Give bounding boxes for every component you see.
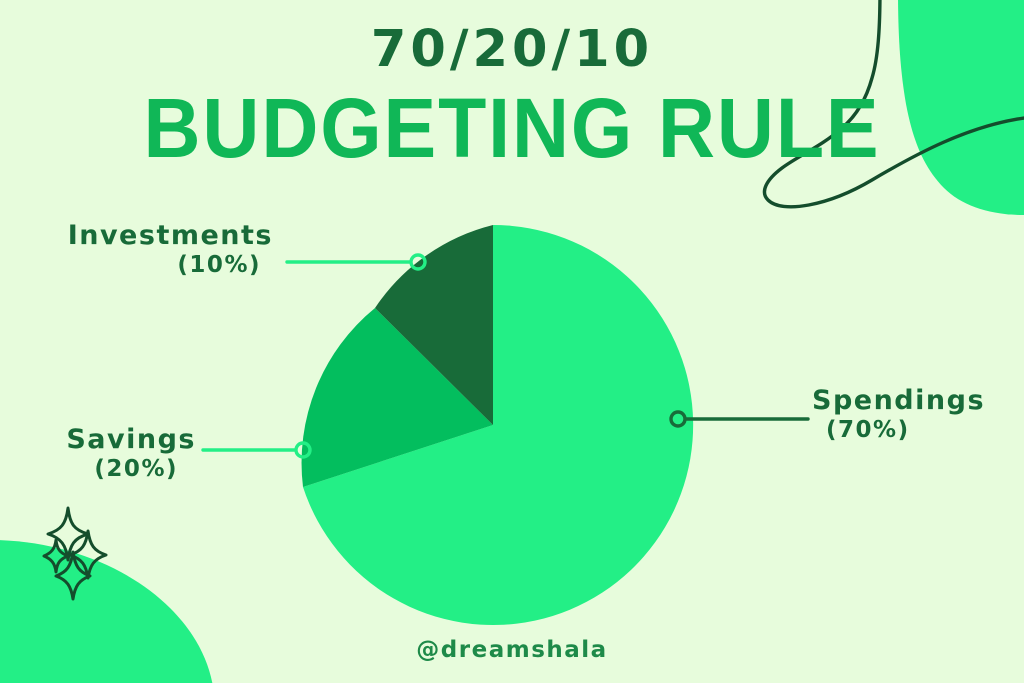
- callout-savings-label: Savings: [36, 424, 196, 456]
- callout-savings: Savings (20%): [36, 424, 196, 483]
- callout-spendings-percent: (70%): [812, 417, 1002, 444]
- page-title: BUDGETING RULE: [31, 84, 994, 172]
- kicker-title: 70/20/10: [0, 24, 1024, 75]
- callout-savings-percent: (20%): [36, 456, 196, 483]
- infographic-canvas: 70/20/10 BUDGETING RULE Investments (10%…: [0, 0, 1024, 683]
- callout-spendings: Spendings (70%): [812, 385, 1002, 444]
- callout-spendings-label: Spendings: [812, 385, 1002, 417]
- callout-investments-percent: (10%): [48, 252, 273, 279]
- author-handle: @dreamshala: [0, 637, 1024, 663]
- callout-investments: Investments (10%): [48, 220, 273, 279]
- callout-investments-label: Investments: [48, 220, 273, 252]
